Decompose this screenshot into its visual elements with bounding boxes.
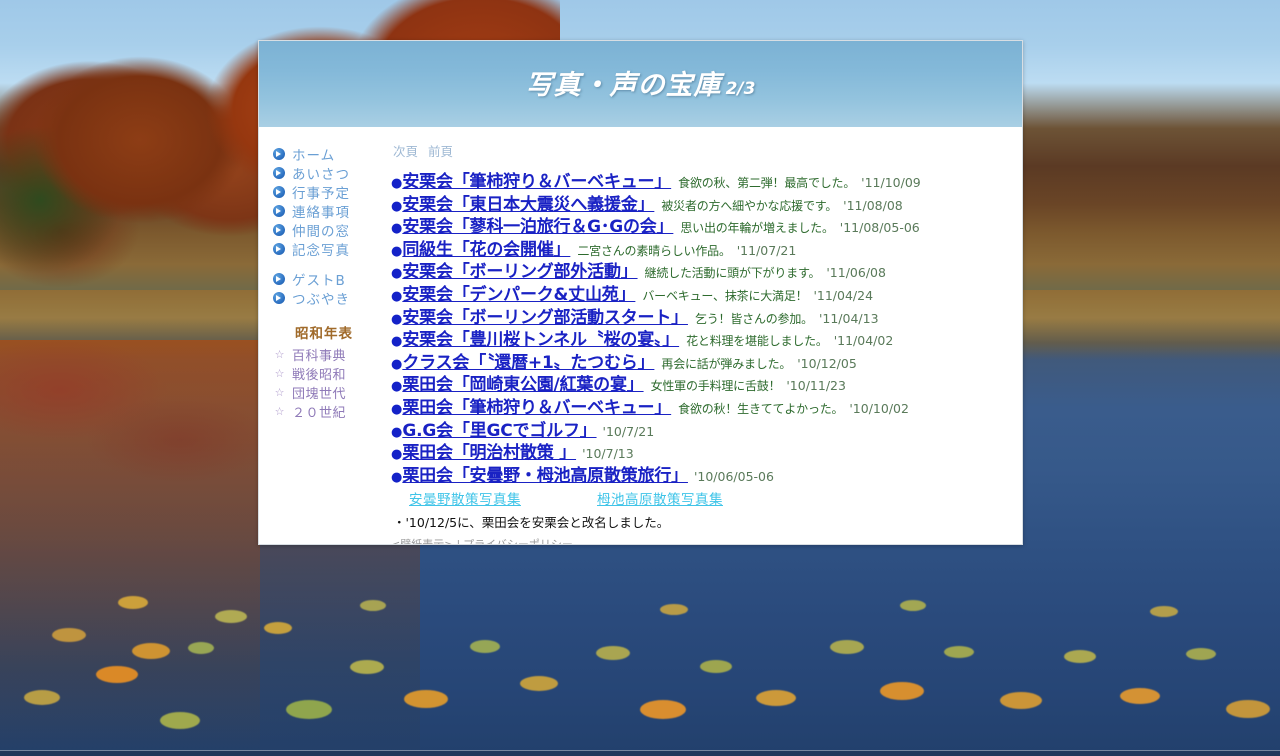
lily-pad bbox=[660, 604, 688, 615]
bullet-icon: ● bbox=[391, 313, 402, 326]
entry-description: 食欲の秋！生きててよかった。 bbox=[678, 400, 843, 417]
bullet-icon: ● bbox=[391, 448, 402, 461]
entry-description: 思い出の年輪が増えました。 bbox=[680, 219, 833, 236]
lily-pad bbox=[900, 600, 926, 611]
bullet-icon: ● bbox=[391, 380, 402, 393]
sidebar-item-encyclopedia[interactable]: ☆ 百科事典 bbox=[267, 345, 385, 364]
arrow-circle-icon bbox=[273, 167, 285, 179]
sidebar-item-memorial-photos[interactable]: 記念写真 bbox=[267, 239, 385, 258]
entry-title-link[interactable]: 栗田会「筆柿狩り＆バーベキュー」 bbox=[402, 393, 671, 418]
sidebar-heading-showa-chronology: 昭和年表 bbox=[267, 322, 385, 342]
sidebar-item-label: ホーム bbox=[292, 144, 335, 164]
entry-date: '10/12/05 bbox=[797, 356, 857, 371]
bullet-icon: ● bbox=[391, 222, 402, 235]
sidebar-item-postwar-showa[interactable]: ☆ 戦後昭和 bbox=[267, 364, 385, 383]
bullet-icon: ● bbox=[391, 335, 402, 348]
entry-title-link[interactable]: 栗田会「明治村散策 」 bbox=[402, 438, 576, 463]
sidebar-item-notices[interactable]: 連絡事項 bbox=[267, 201, 385, 220]
sidebar-item-greeting[interactable]: あいさつ bbox=[267, 163, 385, 182]
entry-row: ●栗田会「安曇野・栂池高原散策旅行」'10/06/05-06 bbox=[391, 461, 1012, 484]
lily-pad bbox=[215, 610, 247, 623]
entry-date: '11/07/21 bbox=[737, 243, 797, 258]
entry-title-link[interactable]: 安栗会「ボーリング部活動スタート」 bbox=[402, 303, 688, 328]
arrow-circle-icon bbox=[273, 243, 285, 255]
lily-pad bbox=[404, 690, 448, 708]
entry-row: ●栗田会「岡崎東公園/紅葉の宴」女性軍の手料理に舌鼓！'10/11/23 bbox=[391, 370, 1012, 393]
entry-title-link[interactable]: G.G会「里GCでゴルフ」 bbox=[402, 416, 596, 441]
lily-pad bbox=[1000, 692, 1042, 709]
entry-title-link[interactable]: 同級生「花の会開催」 bbox=[402, 235, 570, 260]
bullet-icon: ● bbox=[391, 471, 402, 484]
entry-description: バーベキュー、抹茶に大満足！ bbox=[642, 287, 807, 304]
entry-row: ●安栗会「蓼科一泊旅行＆G･Gの会」思い出の年輪が増えました。'11/08/05… bbox=[391, 212, 1012, 235]
entry-row: ●安栗会「ボーリング部外活動」継続した活動に頭が下がります。'11/06/08 bbox=[391, 257, 1012, 280]
lily-pad bbox=[188, 642, 214, 654]
entry-description: 再会に話が弾みました。 bbox=[661, 355, 791, 372]
entry-date: '11/08/05-06 bbox=[840, 220, 920, 235]
star-icon: ☆ bbox=[273, 368, 286, 379]
page-title-text: 写真・声の宝庫 bbox=[526, 70, 722, 101]
sublink-azumino-photo-album[interactable]: 安曇野散策写真集 bbox=[409, 488, 521, 508]
background-foreground-brush bbox=[0, 330, 300, 530]
entry-title-link[interactable]: 安栗会「豊川桜トンネル〝桜の宴〟」 bbox=[402, 325, 679, 350]
lily-pad bbox=[1120, 688, 1160, 704]
lily-pad bbox=[880, 682, 924, 700]
prev-page-link[interactable]: 前頁 bbox=[428, 144, 453, 159]
wallpaper-display-link[interactable]: <壁紙表示> bbox=[391, 538, 453, 545]
site-body: ホーム あいさつ 行事予定 連絡事項 仲間の窓 bbox=[259, 127, 1022, 545]
entry-row: ●安栗会「東日本大震災へ義援金」被災者の方へ細やかな応援です。'11/08/08 bbox=[391, 190, 1012, 213]
sidebar-item-home[interactable]: ホーム bbox=[267, 144, 385, 163]
site-header: 写真・声の宝庫2/3 bbox=[259, 41, 1022, 127]
sidebar-item-guest-b[interactable]: ゲストB bbox=[267, 269, 385, 288]
entry-date: '11/04/13 bbox=[819, 311, 879, 326]
entry-title-link[interactable]: 栗田会「安曇野・栂池高原散策旅行」 bbox=[402, 461, 688, 486]
sidebar-item-label: 仲間の窓 bbox=[292, 220, 350, 240]
entry-date: '11/04/02 bbox=[834, 333, 894, 348]
sidebar-item-label: あいさつ bbox=[292, 163, 350, 183]
sidebar-item-schedule[interactable]: 行事予定 bbox=[267, 182, 385, 201]
entry-date: '10/7/21 bbox=[603, 424, 655, 439]
sidebar-spacer bbox=[267, 258, 385, 269]
bullet-icon: ● bbox=[391, 200, 402, 213]
arrow-circle-icon bbox=[273, 186, 285, 198]
entry-title-link[interactable]: 安栗会「筆柿狩り＆バーベキュー」 bbox=[402, 167, 671, 192]
entry-date: '11/10/09 bbox=[861, 175, 921, 190]
bullet-icon: ● bbox=[391, 177, 402, 190]
entry-row: ●安栗会「筆柿狩り＆バーベキュー」食欲の秋、第二弾！最高でした。'11/10/0… bbox=[391, 167, 1012, 190]
entry-description: 乞う！皆さんの参加。 bbox=[695, 310, 813, 327]
site-panel: 写真・声の宝庫2/3 ホーム あいさつ 行事予定 bbox=[258, 40, 1023, 545]
entry-title-link[interactable]: クラス会「〝還暦+1〟たつむら」 bbox=[402, 348, 654, 373]
entry-title-link[interactable]: 栗田会「岡崎東公園/紅葉の宴」 bbox=[402, 370, 643, 395]
sidebar-item-label: 戦後昭和 bbox=[292, 364, 346, 383]
footer-separator: | bbox=[456, 538, 460, 545]
footer: <壁紙表示>|プライバシーポリシー bbox=[391, 536, 1012, 545]
page-number: 2/3 bbox=[726, 79, 756, 99]
main-content: 次頁前頁 ●安栗会「筆柿狩り＆バーベキュー」食欲の秋、第二弾！最高でした。'11… bbox=[385, 141, 1022, 545]
lily-pad bbox=[1226, 700, 1270, 718]
entry-row: ●G.G会「里GCでゴルフ」'10/7/21 bbox=[391, 416, 1012, 439]
entry-description: 花と料理を堪能しました。 bbox=[686, 332, 828, 349]
sidebar-item-label: ２０世紀 bbox=[292, 402, 346, 421]
star-icon: ☆ bbox=[273, 387, 286, 398]
entry-date: '10/7/13 bbox=[582, 446, 634, 461]
bullet-icon: ● bbox=[391, 426, 402, 439]
sidebar-item-20th-century[interactable]: ☆ ２０世紀 bbox=[267, 402, 385, 421]
entry-row: ●栗田会「明治村散策 」'10/7/13 bbox=[391, 438, 1012, 461]
lily-pad bbox=[118, 596, 148, 609]
lily-pad bbox=[24, 690, 60, 705]
sidebar-item-label: 連絡事項 bbox=[292, 201, 350, 221]
entry-list: ●安栗会「筆柿狩り＆バーベキュー」食欲の秋、第二弾！最高でした。'11/10/0… bbox=[391, 167, 1012, 483]
sidebar-item-label: 行事予定 bbox=[292, 182, 350, 202]
lily-pad bbox=[1064, 650, 1096, 663]
lily-pad bbox=[132, 643, 170, 659]
desktop-background: 写真・声の宝庫2/3 ホーム あいさつ 行事予定 bbox=[0, 0, 1280, 756]
entry-title-link[interactable]: 安栗会「東日本大震災へ義援金」 bbox=[402, 190, 654, 215]
entry-title-link[interactable]: 安栗会「デンパーク&丈山苑」 bbox=[402, 280, 635, 305]
bullet-icon: ● bbox=[391, 358, 402, 371]
entry-row: ●安栗会「ボーリング部活動スタート」乞う！皆さんの参加。'11/04/13 bbox=[391, 303, 1012, 326]
sidebar-item-label: つぶやき bbox=[292, 288, 350, 308]
bullet-icon: ● bbox=[391, 267, 402, 280]
sublink-tsugaike-photo-album[interactable]: 栂池高原散策写真集 bbox=[597, 488, 723, 508]
star-icon: ☆ bbox=[273, 406, 286, 417]
lily-pad bbox=[264, 622, 292, 634]
entry-title-link[interactable]: 安栗会「蓼科一泊旅行＆G･Gの会」 bbox=[402, 212, 673, 237]
entry-row: ●同級生「花の会開催」二宮さんの素晴らしい作品。'11/07/21 bbox=[391, 235, 1012, 258]
sidebar-item-baby-boomers[interactable]: ☆ 団塊世代 bbox=[267, 383, 385, 402]
lily-pad bbox=[360, 600, 386, 611]
sidebar-item-label: 百科事典 bbox=[292, 345, 346, 364]
entry-date: '11/06/08 bbox=[826, 265, 886, 280]
lily-pad bbox=[96, 666, 138, 683]
next-page-link[interactable]: 次頁 bbox=[393, 144, 418, 159]
lily-pad bbox=[700, 660, 732, 673]
entry-row: ●安栗会「デンパーク&丈山苑」バーベキュー、抹茶に大満足！'11/04/24 bbox=[391, 280, 1012, 303]
entry-row: ●クラス会「〝還暦+1〟たつむら」再会に話が弾みました。'10/12/05 bbox=[391, 348, 1012, 371]
entry-row: ●安栗会「豊川桜トンネル〝桜の宴〟」花と料理を堪能しました。'11/04/02 bbox=[391, 325, 1012, 348]
bullet-icon: ● bbox=[391, 403, 402, 416]
sublinks: 安曇野散策写真集 栂池高原散策写真集 bbox=[391, 488, 1012, 508]
arrow-circle-icon bbox=[273, 148, 285, 160]
entry-description: 女性軍の手料理に舌鼓！ bbox=[651, 377, 781, 394]
lily-pad bbox=[350, 660, 384, 674]
sidebar: ホーム あいさつ 行事予定 連絡事項 仲間の窓 bbox=[259, 141, 385, 545]
lily-pad bbox=[286, 700, 332, 719]
sidebar-item-label: 記念写真 bbox=[292, 239, 350, 259]
entry-description: 食欲の秋、第二弾！最高でした。 bbox=[678, 174, 855, 191]
arrow-circle-icon bbox=[273, 273, 285, 285]
bullet-icon: ● bbox=[391, 245, 402, 258]
bullet-icon: ● bbox=[391, 290, 402, 303]
lily-pad bbox=[470, 640, 500, 653]
lily-pad bbox=[520, 676, 558, 691]
taskbar[interactable] bbox=[0, 750, 1280, 756]
entry-date: '10/11/23 bbox=[786, 378, 846, 393]
entry-date: '11/04/24 bbox=[813, 288, 873, 303]
sidebar-item-label: ゲストB bbox=[292, 269, 346, 289]
lily-pad bbox=[1186, 648, 1216, 660]
lily-pad bbox=[944, 646, 974, 658]
lily-pad bbox=[756, 690, 796, 706]
page-title: 写真・声の宝庫2/3 bbox=[259, 63, 1022, 102]
rename-note: ・'10/12/5に、栗田会を安栗会と改名しました。 bbox=[391, 512, 1012, 531]
entry-title-link[interactable]: 安栗会「ボーリング部外活動」 bbox=[402, 257, 637, 282]
lily-pad bbox=[52, 628, 86, 642]
arrow-circle-icon bbox=[273, 292, 285, 304]
star-icon: ☆ bbox=[273, 349, 286, 360]
sidebar-item-label: 団塊世代 bbox=[292, 383, 346, 402]
entry-date: '10/06/05-06 bbox=[694, 469, 774, 484]
entry-row: ●栗田会「筆柿狩り＆バーベキュー」食欲の秋！生きててよかった。'10/10/02 bbox=[391, 393, 1012, 416]
lily-pad bbox=[830, 640, 864, 654]
arrow-circle-icon bbox=[273, 224, 285, 236]
sidebar-item-friends-window[interactable]: 仲間の窓 bbox=[267, 220, 385, 239]
entry-description: 被災者の方へ細やかな応援です。 bbox=[661, 197, 837, 214]
entry-description: 継続した活動に頭が下がります。 bbox=[645, 264, 821, 281]
privacy-policy-link[interactable]: プライバシーポリシー bbox=[463, 538, 573, 545]
lily-pad bbox=[640, 700, 686, 719]
entry-description: 二宮さんの素晴らしい作品。 bbox=[577, 242, 730, 259]
entry-date: '10/10/02 bbox=[849, 401, 909, 416]
lily-pad bbox=[1150, 606, 1178, 617]
sidebar-item-tweets[interactable]: つぶやき bbox=[267, 288, 385, 307]
lily-pad bbox=[160, 712, 200, 729]
arrow-circle-icon bbox=[273, 205, 285, 217]
entry-date: '11/08/08 bbox=[843, 198, 903, 213]
lily-pad bbox=[596, 646, 630, 660]
pager: 次頁前頁 bbox=[391, 141, 1012, 160]
